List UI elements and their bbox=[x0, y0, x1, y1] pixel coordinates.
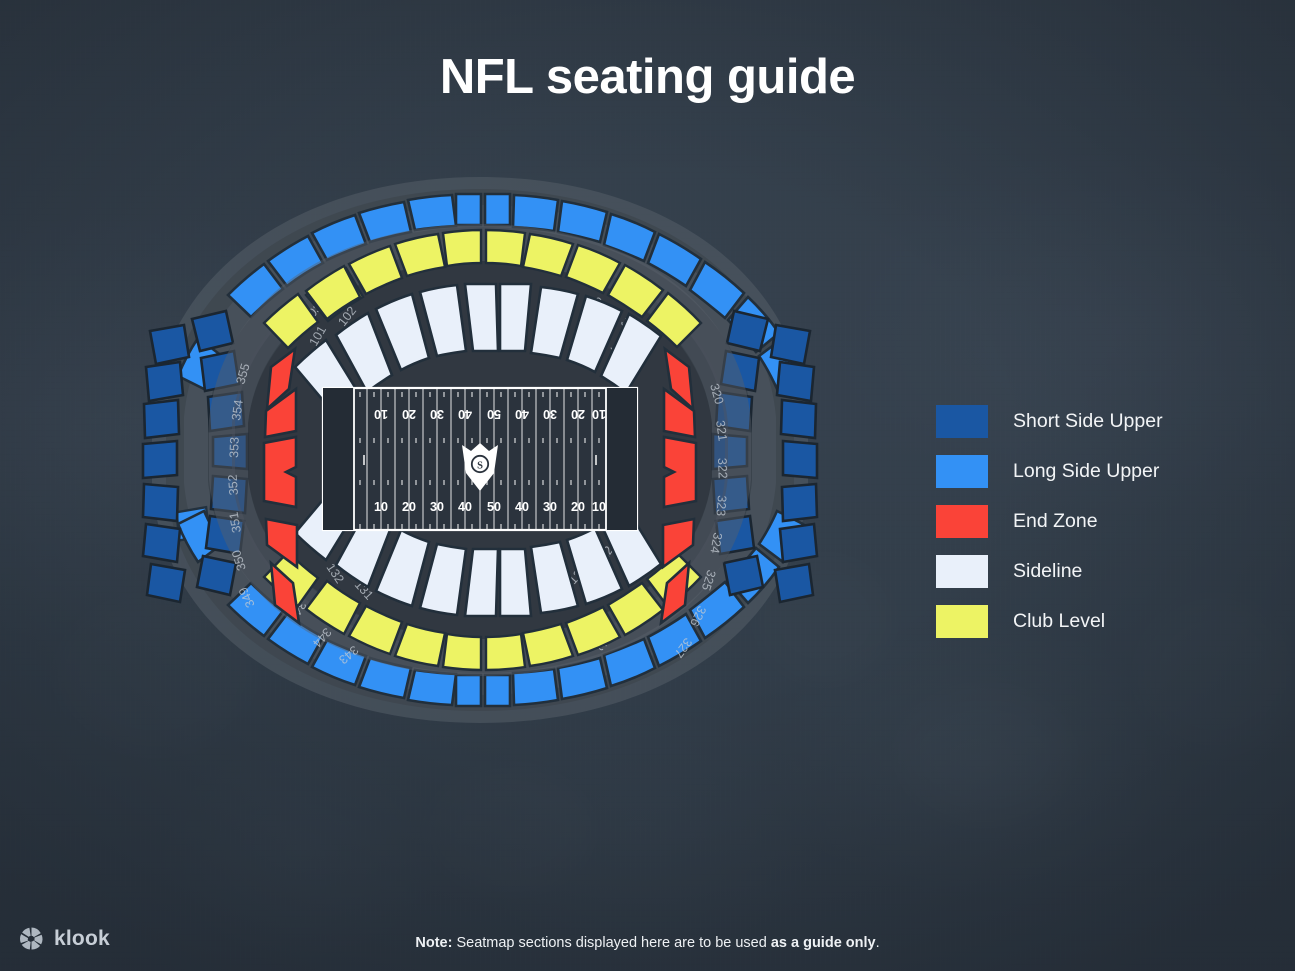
seat-section-short-upper bbox=[147, 564, 185, 602]
svg-text:20: 20 bbox=[571, 407, 585, 421]
seat-section-short-upper bbox=[781, 400, 816, 438]
svg-text:40: 40 bbox=[458, 407, 472, 421]
legend: Short Side Upper Long Side Upper End Zon… bbox=[936, 396, 1163, 646]
legend-item-club-level[interactable]: Club Level bbox=[936, 596, 1163, 646]
svg-text:10: 10 bbox=[374, 407, 388, 421]
legend-swatch-short-side-upper bbox=[936, 405, 988, 438]
legend-item-end-zone[interactable]: End Zone bbox=[936, 496, 1163, 546]
seat-section-short-upper bbox=[775, 564, 813, 602]
seat-section-long-upper bbox=[513, 195, 558, 231]
seat-section-sideline bbox=[500, 549, 531, 616]
note-suffix: . bbox=[876, 935, 880, 951]
svg-text:20: 20 bbox=[402, 407, 416, 421]
seat-section-long-upper bbox=[456, 194, 481, 225]
legend-label-club-level: Club Level bbox=[1013, 610, 1105, 633]
legend-item-long-side-upper[interactable]: Long Side Upper bbox=[936, 446, 1163, 496]
svg-text:40: 40 bbox=[458, 500, 472, 514]
seat-section-short-upper bbox=[727, 311, 768, 351]
seat-section-long-upper bbox=[485, 675, 510, 706]
yard-numbers-bottom: 10 20 30 40 50 40 30 20 10 bbox=[374, 500, 606, 514]
klook-wordmark: klook bbox=[54, 927, 110, 951]
section-number: 354 bbox=[229, 399, 246, 422]
seat-section-short-upper bbox=[197, 556, 236, 595]
seat-section-short-upper bbox=[143, 441, 177, 478]
note-prefix: Note: bbox=[415, 935, 452, 951]
svg-text:50: 50 bbox=[487, 500, 501, 514]
svg-text:30: 30 bbox=[543, 500, 557, 514]
seat-section-short-upper bbox=[780, 524, 817, 562]
footer-note: Note: Seatmap sections displayed here ar… bbox=[0, 935, 1295, 951]
legend-swatch-sideline bbox=[936, 555, 988, 588]
legend-item-sideline[interactable]: Sideline bbox=[936, 546, 1163, 596]
svg-text:30: 30 bbox=[430, 407, 444, 421]
seat-section-club bbox=[486, 230, 525, 266]
seat-section-club bbox=[443, 634, 481, 670]
svg-text:10: 10 bbox=[592, 407, 606, 421]
seat-section-short-upper bbox=[192, 311, 233, 351]
note-body: Seatmap sections displayed here are to b… bbox=[452, 935, 770, 951]
seat-section-long-upper bbox=[408, 195, 456, 230]
legend-swatch-long-side-upper bbox=[936, 455, 988, 488]
seat-section-short-upper bbox=[783, 441, 817, 478]
seat-section-long-upper bbox=[485, 194, 510, 225]
legend-swatch-end-zone bbox=[936, 505, 988, 538]
stadium-seatmap[interactable]: 355 354 353 352 351 350 349 320 321 322 … bbox=[140, 175, 820, 725]
section-number: 322 bbox=[715, 458, 730, 479]
seat-section-long-upper bbox=[513, 669, 558, 705]
svg-text:30: 30 bbox=[430, 500, 444, 514]
seat-section-short-upper bbox=[143, 484, 178, 521]
seat-section-short-upper bbox=[724, 556, 763, 595]
seat-section-short-upper bbox=[771, 325, 810, 364]
svg-text:10: 10 bbox=[592, 500, 606, 514]
seat-section-long-upper bbox=[456, 675, 481, 706]
seat-section-sideline bbox=[500, 284, 531, 351]
legend-item-short-side-upper[interactable]: Short Side Upper bbox=[936, 396, 1163, 446]
section-number: 352 bbox=[226, 474, 241, 496]
svg-text:40: 40 bbox=[515, 500, 529, 514]
seat-section-short-upper bbox=[143, 524, 180, 562]
section-number: 323 bbox=[714, 495, 729, 517]
svg-text:20: 20 bbox=[571, 500, 585, 514]
seat-section-short-upper bbox=[146, 362, 183, 401]
section-number: 321 bbox=[713, 419, 730, 442]
football-field: 10 20 30 40 50 40 30 20 10 10 20 30 40 5… bbox=[323, 388, 637, 530]
note-emphasis: as a guide only bbox=[771, 935, 876, 951]
legend-label-short-side-upper: Short Side Upper bbox=[1013, 410, 1163, 433]
svg-text:10: 10 bbox=[374, 500, 388, 514]
seat-section-short-upper bbox=[777, 362, 814, 401]
svg-text:20: 20 bbox=[402, 500, 416, 514]
section-number: 353 bbox=[227, 437, 242, 458]
seat-section-short-upper bbox=[144, 400, 179, 438]
legend-label-end-zone: End Zone bbox=[1013, 510, 1098, 533]
seat-section-short-upper bbox=[150, 325, 189, 364]
klook-pinwheel-icon bbox=[18, 925, 45, 952]
svg-text:50: 50 bbox=[487, 407, 501, 421]
svg-text:40: 40 bbox=[515, 407, 529, 421]
klook-logo[interactable]: klook bbox=[18, 925, 110, 952]
legend-label-sideline: Sideline bbox=[1013, 560, 1082, 583]
legend-label-long-side-upper: Long Side Upper bbox=[1013, 460, 1159, 483]
seat-section-club bbox=[443, 230, 481, 266]
seat-section-short-upper bbox=[782, 484, 817, 521]
yard-numbers-top: 10 20 30 40 50 40 30 20 10 bbox=[374, 407, 606, 421]
legend-swatch-club-level bbox=[936, 605, 988, 638]
svg-text:30: 30 bbox=[543, 407, 557, 421]
svg-text:S: S bbox=[477, 460, 483, 471]
page-title: NFL seating guide bbox=[0, 49, 1295, 105]
seat-section-club bbox=[486, 634, 525, 670]
seat-section-long-upper bbox=[408, 670, 456, 705]
